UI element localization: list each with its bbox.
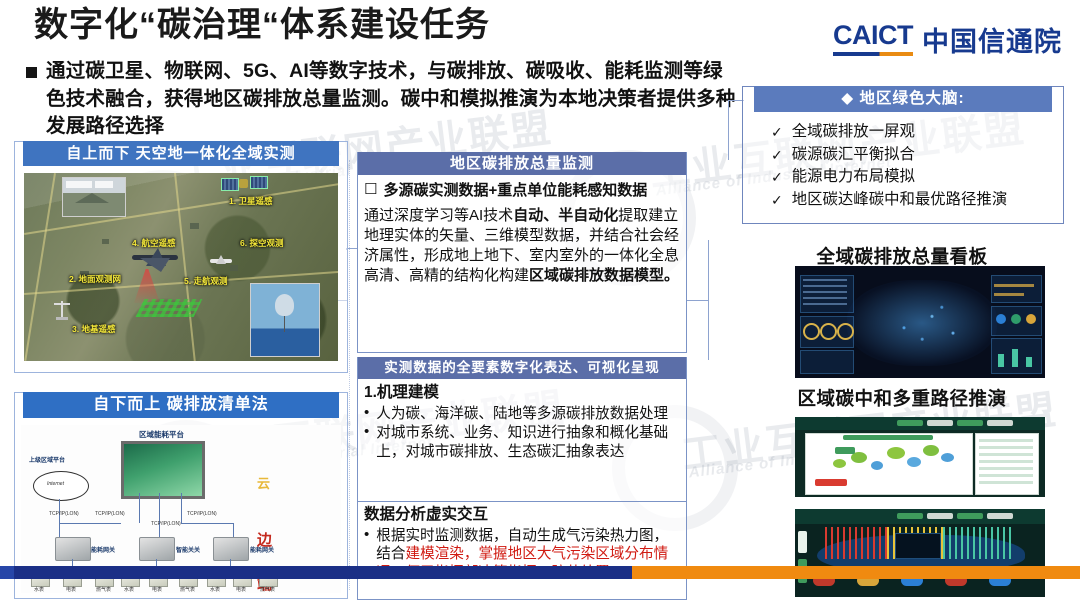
dashboard-gauge xyxy=(803,323,820,340)
solar-panel-left-icon xyxy=(221,178,239,191)
protocol-label: TCP/IP(LON) xyxy=(49,511,79,517)
list-item-label: 对城市系统、业务、知识进行抽象和概化基础上，对城市碳排放、生态碳汇抽象表达 xyxy=(376,424,681,461)
panel-expression-header: 实测数据的全要素数字化表达、可视化呈现 xyxy=(358,357,686,379)
dashboard-tab xyxy=(987,420,1013,426)
building-block xyxy=(190,223,199,229)
meter-label: 水表 xyxy=(210,586,220,593)
gateway-label: 智能关关 xyxy=(176,545,200,554)
platform-title: 区域能耗平台 xyxy=(139,429,184,440)
bubble xyxy=(907,457,921,467)
panel-regional-emission-monitoring: 地区碳排放总量监测 ☐ 多源碳实测数据+重点单位能耗感知数据 通过深度学习等AI… xyxy=(357,152,687,353)
list-item-label: 人为碳、海洋碳、陆地等多源碳排放数据处理 xyxy=(376,405,668,424)
solar-panel-right-icon xyxy=(250,176,268,189)
inset-photo-ground-station xyxy=(62,177,126,217)
checkbox-item-row: ☐ 多源碳实测数据+重点单位能耗感知数据 xyxy=(364,181,681,201)
panel-regional-green-brain: ◆ 地区绿色大脑: ✓全域碳排放一屏观 ✓碳源碳汇平衡拟合 ✓能源电力布局模拟 … xyxy=(742,86,1064,224)
meter-label: 电表 xyxy=(236,586,246,593)
bullet-dot-icon: • xyxy=(364,424,369,461)
gateway-device xyxy=(213,537,249,561)
connector-mid-right-v xyxy=(708,240,709,360)
dashboard-text-line xyxy=(803,285,847,287)
satellite-body-icon xyxy=(239,179,248,188)
list-item: ✓地区碳达峰碳中和最优路径推演 xyxy=(771,189,1007,212)
pathway-bubble-chart-screenshot xyxy=(795,417,1045,497)
dashboard-tab xyxy=(927,513,953,519)
page-title: 数字化“碳治理“体系建设任务 xyxy=(34,6,490,45)
caict-chinese-name: 中国信通院 xyxy=(922,29,1062,56)
dashboard-tab xyxy=(927,420,953,426)
para-part-2: 自动、半自动化 xyxy=(513,207,618,224)
dashboard-text-line xyxy=(803,303,847,305)
panel-bottom-up-header: 自下而上 碳排放清单法 xyxy=(23,392,339,418)
check-icon: ✓ xyxy=(771,145,783,166)
list-item-label: 全域碳排放一屏观 xyxy=(792,121,915,144)
section2-title: 数据分析虚实交互 xyxy=(364,505,681,526)
panel-top-down-header: 自上而下 天空地一体化全域实测 xyxy=(23,141,339,166)
dashboard-tab xyxy=(987,513,1013,519)
tier-label-cloud: 云 xyxy=(257,473,270,492)
emission-paragraph: 通过深度学习等AI技术自动、半自动化提取建立地理实体的矢量、三维模型数据，并结合… xyxy=(364,206,681,286)
link-line xyxy=(59,523,121,524)
list-item-label: 能源电力布局模拟 xyxy=(792,166,915,189)
gateway-label: 能耗网关 xyxy=(91,545,115,554)
bubble xyxy=(871,461,883,470)
dashboard-text-line xyxy=(803,291,847,293)
metrics-row xyxy=(979,453,1033,456)
link-line xyxy=(181,523,233,524)
panel-expression-section1: 1.机理建模 •人为碳、海洋碳、陆地等多源碳排放数据处理 •对城市系统、业务、知… xyxy=(364,383,681,463)
building-block xyxy=(230,265,238,271)
meter-label: 水表 xyxy=(34,586,44,593)
meter-label: 电表 xyxy=(152,586,162,593)
dashboard-node xyxy=(996,314,1006,324)
dashboard-bar xyxy=(1012,349,1018,367)
dashboard-node xyxy=(1026,314,1036,324)
dashboard-tab xyxy=(897,513,923,519)
dashboard-gauge xyxy=(820,323,837,340)
metrics-row xyxy=(979,446,1033,449)
panel-emission-body: ☐ 多源碳实测数据+重点单位能耗感知数据 通过深度学习等AI技术自动、半自动化提… xyxy=(364,181,681,286)
dashboard-gauge xyxy=(837,323,854,340)
dashboard-map-dots xyxy=(855,286,995,362)
dashboard-tab xyxy=(897,420,923,426)
dashboard-text-line xyxy=(994,284,1034,287)
decorative-footer-cap xyxy=(0,566,14,579)
list-item: •人为碳、海洋碳、陆地等多源碳排放数据处理 xyxy=(364,405,681,424)
check-icon: ✓ xyxy=(771,167,783,188)
bubble xyxy=(923,445,939,456)
caict-rule xyxy=(833,52,913,56)
para-part-4: 区域碳排放数据模型。 xyxy=(529,267,679,284)
regional-3d-map-screenshot xyxy=(795,509,1045,597)
metrics-row xyxy=(979,474,1033,477)
bullet-square-icon xyxy=(26,67,37,78)
dashboard-card-right-top xyxy=(991,275,1042,303)
caict-logo: CAICT 中国信通院 xyxy=(833,22,1062,56)
internet-label: Internet xyxy=(47,481,64,487)
list-item: •对城市系统、业务、知识进行抽象和概化基础上，对城市碳排放、生态碳汇抽象表达 xyxy=(364,424,681,461)
slide-root: 工业互联网产业联盟 Alliance of Industrial Interne… xyxy=(0,0,1080,608)
panel-digital-expression: 实测数据的全要素数字化表达、可视化呈现 1.机理建模 •人为碳、海洋碳、陆地等多… xyxy=(357,357,687,600)
check-icon: ✓ xyxy=(771,122,783,143)
link-line xyxy=(159,493,160,537)
list-item-label: 地区碳达峰碳中和最优路径推演 xyxy=(792,189,1007,212)
meter-label: 燃气表 xyxy=(180,586,195,593)
platform-screen xyxy=(121,441,205,499)
bubble xyxy=(941,453,954,462)
link-line xyxy=(139,493,140,523)
panel-emission-header: 地区碳排放总量监测 xyxy=(358,152,686,175)
metrics-row xyxy=(979,460,1033,463)
dashboard-node xyxy=(1011,314,1021,324)
check-icon: ✓ xyxy=(771,190,783,211)
meter-label: 水表 xyxy=(124,586,134,593)
section-divider xyxy=(358,501,686,502)
dashboard-tab xyxy=(957,420,983,426)
dashboard-tab xyxy=(957,513,983,519)
gateway-device xyxy=(139,537,175,561)
dashboard-bar xyxy=(998,354,1004,367)
dashboard-text-line xyxy=(803,279,847,281)
caict-word: CAICT xyxy=(833,22,913,49)
satellite-scene-image: 1. 卫星遥感 4. 航空遥感 6. 探空观测 2. 地面观测网 5. 走航观测… xyxy=(24,173,338,361)
panel-brain-header: ◆ 地区绿色大脑: xyxy=(754,86,1052,112)
connector-right-brain-v xyxy=(728,100,729,160)
meter-label: 燃气表 xyxy=(260,586,275,593)
brain-item-list: ✓全域碳排放一屏观 ✓碳源碳汇平衡拟合 ✓能源电力布局模拟 ✓地区碳达峰碳中和最… xyxy=(771,121,1007,212)
scene-label-1: 1. 卫星遥感 xyxy=(229,195,272,207)
chart-legend-chip xyxy=(835,447,855,454)
link-line xyxy=(181,493,182,523)
metrics-row xyxy=(979,467,1033,470)
panel-top-down-observation: 自上而下 天空地一体化全域实测 xyxy=(14,141,348,373)
section1-title: 1.机理建模 xyxy=(364,383,681,404)
meter-label: 电表 xyxy=(66,586,76,593)
dashboard-text-line xyxy=(994,293,1024,296)
connector-left-stack-v xyxy=(349,160,350,590)
scene-label-5: 5. 走航观测 xyxy=(184,275,227,287)
dashboard-card-left-bottom xyxy=(800,350,854,374)
dashboard-bar xyxy=(1026,357,1032,367)
tier-label-edge: 边 xyxy=(257,529,272,550)
meter-label: 燃气表 xyxy=(96,586,111,593)
survey-grid xyxy=(136,299,203,317)
upstream-label: 上级区域平台 xyxy=(29,455,65,464)
checkbox-icon: ☐ xyxy=(364,181,377,199)
scene-label-3: 3. 地基遥感 xyxy=(72,323,115,335)
list-item: ✓全域碳排放一屏观 xyxy=(771,121,1007,144)
connector-mid-right xyxy=(686,300,708,301)
protocol-label: TCP/IP(LON) xyxy=(151,521,181,527)
dashboard-text-line xyxy=(803,297,847,299)
chart-alert-chip xyxy=(815,479,847,486)
protocol-label: TCP/IP(LON) xyxy=(95,511,125,517)
gateway-device xyxy=(55,537,91,561)
chart-title-band xyxy=(843,435,933,440)
bubble xyxy=(887,447,905,459)
intro-bullet: 通过碳卫星、物联网、5G、AI等数字技术，与碳排放、碳吸收、能耗监测等绿色技术融… xyxy=(26,58,736,141)
para-part-1: 通过深度学习等AI技术 xyxy=(364,207,513,224)
list-item: ✓碳源碳汇平衡拟合 xyxy=(771,144,1007,167)
checkbox-item-label: 多源碳实测数据+重点单位能耗感知数据 xyxy=(383,181,647,201)
inset-photo-sounding-balloon xyxy=(250,283,320,357)
side-control xyxy=(798,531,807,553)
bullet-dot-icon: • xyxy=(364,405,369,424)
scene-label-4: 4. 航空遥感 xyxy=(132,237,175,249)
protocol-label: TCP/IP(LON) xyxy=(187,511,217,517)
list-item-label: 碳源碳汇平衡拟合 xyxy=(792,144,915,167)
scene-label-2: 2. 地面观测网 xyxy=(69,273,121,285)
metrics-row xyxy=(979,481,1033,484)
decorative-footer-bar xyxy=(0,566,1080,579)
metrics-panel xyxy=(975,433,1039,495)
map-inset-panel xyxy=(895,533,941,559)
building-block xyxy=(102,239,109,244)
section1-bullet-list: •人为碳、海洋碳、陆地等多源碳排放数据处理 •对城市系统、业务、知识进行抽象和概… xyxy=(364,405,681,462)
list-item: ✓能源电力布局模拟 xyxy=(771,166,1007,189)
scene-label-6: 6. 探空观测 xyxy=(240,237,283,249)
bubble xyxy=(833,459,846,468)
emission-dashboard-screenshot xyxy=(795,266,1045,378)
metrics-row xyxy=(979,439,1033,442)
intro-text: 通过碳卫星、物联网、5G、AI等数字技术，与碳排放、碳吸收、能耗监测等绿色技术融… xyxy=(46,58,736,141)
caict-wordmark: CAICT xyxy=(833,22,913,56)
pathway-caption: 区域碳中和多重路径推演 xyxy=(742,385,1062,411)
